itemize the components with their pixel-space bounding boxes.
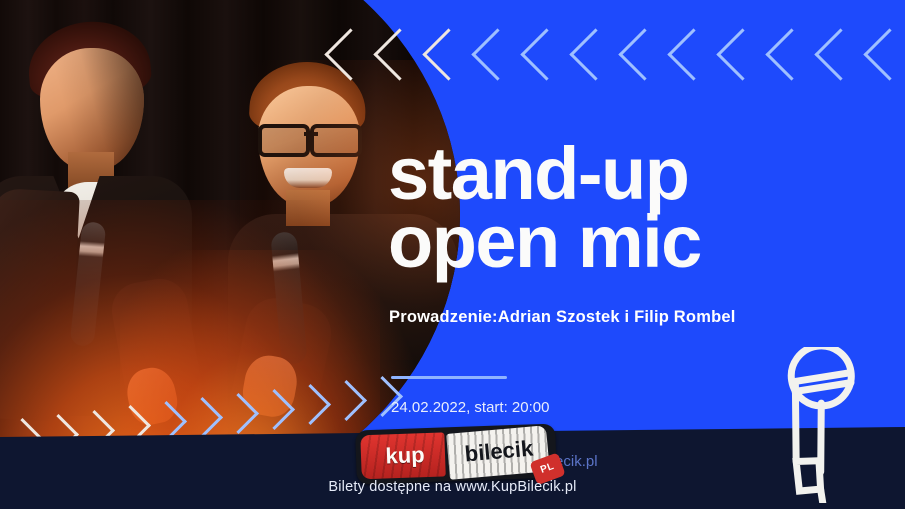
event-poster: stand-up open mic Prowadzenie:Adrian Szo… [0,0,905,509]
chevron-left-icon [716,28,768,80]
chevron-left-icon [863,28,905,80]
chevron-left-icon [765,28,817,80]
chevron-left-icon [520,28,572,80]
chevron-left-icon [618,28,670,80]
event-date: 24.02.2022, start: 20:00 [391,394,861,421]
chevron-left-icon [422,28,474,80]
chevron-left-icon [569,28,621,80]
logo-text-kup: kup [370,441,441,471]
chevron-left-icon [471,28,523,80]
divider [391,376,507,379]
chevron-left-icon [814,28,866,80]
chevron-left-icon [667,28,719,80]
page-title: stand-up open mic [388,140,888,276]
footer-note: Bilety dostępne na www.KupBilecik.pl [0,479,905,495]
kupbilecik-logo[interactable]: kup bilecik PL [355,424,557,485]
hosts-subtitle: Prowadzenie:Adrian Szostek i Filip Rombe… [389,308,869,327]
title-line-2: open mic [388,208,888,276]
